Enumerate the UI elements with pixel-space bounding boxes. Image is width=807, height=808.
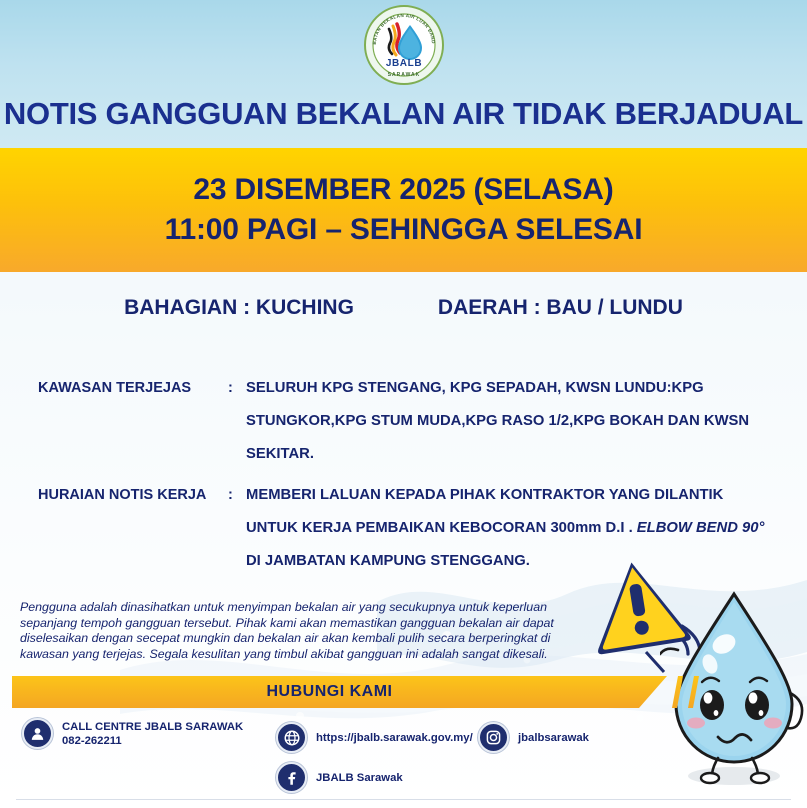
affected-areas-line-2: STUNGKOR,KPG STUM MUDA,KPG RASO 1/2,KPG … (246, 405, 778, 438)
contact-facebook[interactable]: JBALB Sarawak (276, 762, 403, 793)
location-row: BAHAGIAN : KUCHING DAERAH : BAU / LUNDU (0, 296, 807, 320)
instagram-handle: jbalbsarawak (518, 731, 589, 745)
contact-call-centre[interactable]: CALL CENTRE JBALB SARAWAK 082-262211 (22, 718, 243, 749)
footer-divider (16, 799, 791, 800)
svg-text:SARAWAK: SARAWAK (387, 72, 420, 78)
notice-poster: JBALB SARAWAK JABATAN BEKALAN AIR LUAR B… (0, 0, 807, 808)
contact-instagram[interactable]: jbalbsarawak (478, 722, 589, 753)
page-title: NOTIS GANGGUAN BEKALAN AIR TIDAK BERJADU… (0, 96, 807, 132)
affected-areas-line-3: SEKITAR. (246, 438, 778, 471)
person-icon (22, 718, 53, 749)
contact-banner-bar: HUBUNGI KAMI (12, 676, 667, 708)
affected-areas-block: KAWASAN TERJEJAS : SELURUH KPG STENGANG,… (38, 372, 778, 471)
facebook-icon (276, 762, 307, 793)
affected-areas-line-1: SELURUH KPG STENGANG, KPG SEPADAH, KWSN … (246, 372, 778, 405)
disruption-time: 11:00 PAGI – SEHINGGA SELESAI (165, 213, 643, 247)
affected-areas-colon: : (228, 372, 246, 471)
banner-stripe-1 (672, 676, 683, 708)
contact-website[interactable]: https://jbalb.sarawak.gov.my/ (276, 722, 473, 753)
poster-header: JBALB SARAWAK JABATAN BEKALAN AIR LUAR B… (0, 0, 807, 148)
contact-banner-title: HUBUNGI KAMI (267, 683, 413, 701)
banner-stripe-2 (688, 676, 699, 708)
svg-text:JBALB: JBALB (385, 58, 421, 69)
district-label: DAERAH : BAU / LUNDU (438, 296, 683, 320)
affected-areas-value: SELURUH KPG STENGANG, KPG SEPADAH, KWSN … (246, 372, 778, 471)
instagram-icon (478, 722, 509, 753)
contact-call-centre-text: CALL CENTRE JBALB SARAWAK 082-262211 (62, 720, 243, 748)
call-centre-phone: 082-262211 (62, 734, 243, 748)
disclaimer-text: Pengguna adalah dinasihatkan untuk menyi… (20, 600, 590, 662)
website-url: https://jbalb.sarawak.gov.my/ (316, 731, 473, 745)
work-description-line-1: MEMBERI LALUAN KEPADA PIHAK KONTRAKTOR Y… (246, 479, 778, 512)
call-centre-name: CALL CENTRE JBALB SARAWAK (62, 721, 243, 733)
jbalb-sarawak-logo: JBALB SARAWAK JABATAN BEKALAN AIR LUAR B… (363, 4, 445, 86)
affected-areas-label: KAWASAN TERJEJAS (38, 372, 228, 471)
division-label: BAHAGIAN : KUCHING (124, 296, 354, 320)
work-description-colon: : (228, 479, 246, 578)
work-description-line-2: UNTUK KERJA PEMBAIKAN KEBOCORAN 300mm D.… (246, 512, 778, 545)
facebook-handle: JBALB Sarawak (316, 771, 403, 785)
date-time-banner: 23 DISEMBER 2025 (SELASA) 11:00 PAGI – S… (0, 148, 807, 272)
work-description-label: HURAIAN NOTIS KERJA (38, 479, 228, 578)
contact-list: CALL CENTRE JBALB SARAWAK 082-262211 htt… (0, 714, 807, 794)
disruption-date: 23 DISEMBER 2025 (SELASA) (193, 173, 613, 207)
contact-banner: HUBUNGI KAMI (12, 676, 792, 708)
globe-icon (276, 722, 307, 753)
